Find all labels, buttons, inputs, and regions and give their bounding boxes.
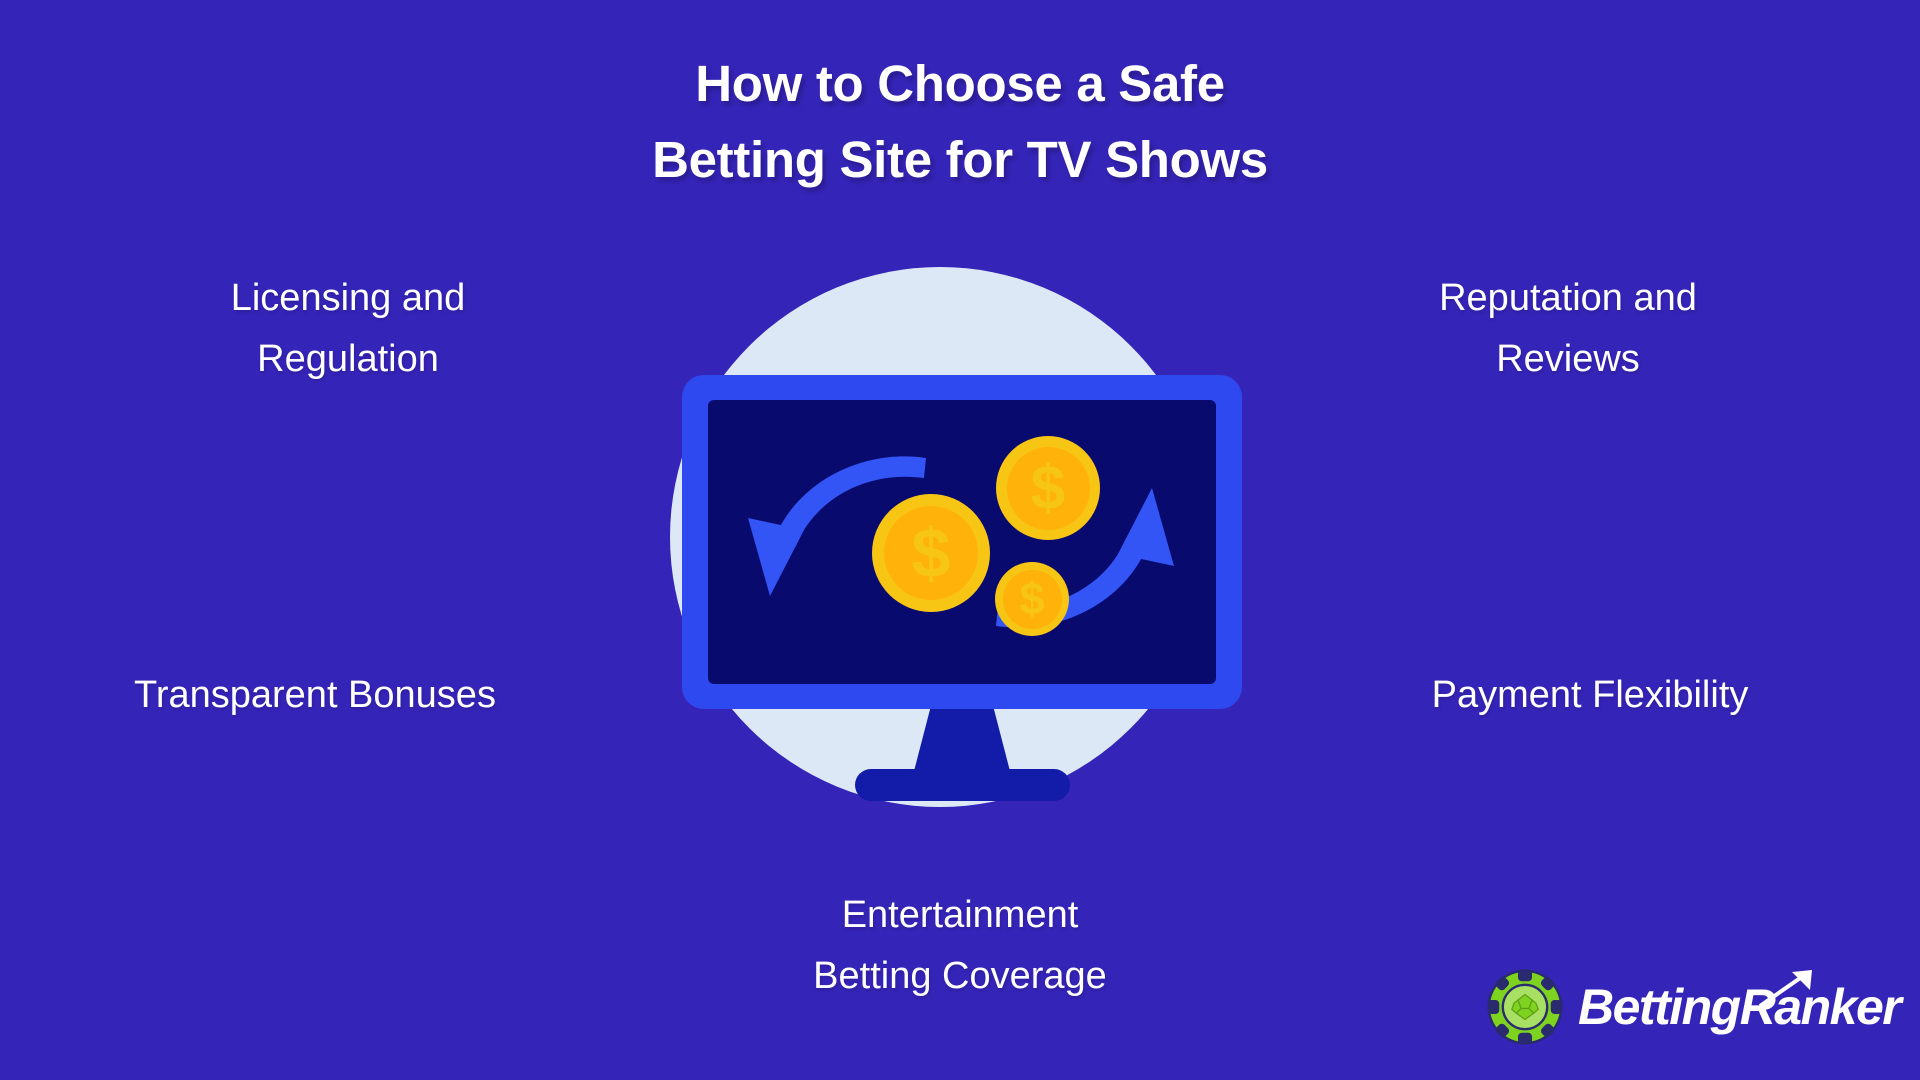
feature-reputation-line-2: Reviews bbox=[1338, 329, 1798, 390]
tv-monitor-illustration: $ $ $ bbox=[660, 245, 1260, 825]
feature-payment-line-1: Payment Flexibility bbox=[1330, 665, 1850, 726]
feature-label-entertainment-betting-coverage: Entertainment Betting Coverage bbox=[700, 885, 1220, 1007]
coin-medium-symbol: $ bbox=[1007, 447, 1090, 530]
rising-arrow-icon bbox=[1754, 966, 1824, 1010]
coin-medium: $ bbox=[996, 436, 1100, 540]
page-title: How to Choose a Safe Betting Site for TV… bbox=[0, 46, 1920, 198]
coin-large: $ bbox=[872, 494, 990, 612]
coin-small: $ bbox=[995, 562, 1069, 636]
feature-reputation-line-1: Reputation and bbox=[1338, 268, 1798, 329]
coin-small-symbol: $ bbox=[1003, 570, 1062, 629]
poker-chip-icon bbox=[1486, 968, 1564, 1046]
monitor-stand-base-icon bbox=[855, 769, 1070, 801]
feature-label-licensing: Licensing and Regulation bbox=[118, 268, 578, 390]
brand-logo[interactable]: BettingRanker bbox=[1486, 965, 1900, 1049]
title-line-2: Betting Site for TV Shows bbox=[0, 122, 1920, 198]
feature-label-reputation: Reputation and Reviews bbox=[1338, 268, 1798, 390]
feature-entertainment-line-2: Betting Coverage bbox=[700, 946, 1220, 1007]
feature-label-transparent-bonuses: Transparent Bonuses bbox=[55, 665, 575, 726]
feature-entertainment-line-1: Entertainment bbox=[700, 885, 1220, 946]
coin-large-symbol: $ bbox=[884, 506, 978, 600]
feature-bonuses-line-1: Transparent Bonuses bbox=[55, 665, 575, 726]
monitor-screen: $ $ $ bbox=[708, 400, 1216, 684]
brand-name: BettingRanker bbox=[1578, 978, 1900, 1036]
title-line-1: How to Choose a Safe bbox=[0, 46, 1920, 122]
feature-licensing-line-2: Regulation bbox=[118, 329, 578, 390]
feature-licensing-line-1: Licensing and bbox=[118, 268, 578, 329]
brand-name-part1: Betting bbox=[1578, 979, 1740, 1035]
feature-label-payment-flexibility: Payment Flexibility bbox=[1330, 665, 1850, 726]
infographic-canvas: How to Choose a Safe Betting Site for TV… bbox=[0, 0, 1920, 1080]
